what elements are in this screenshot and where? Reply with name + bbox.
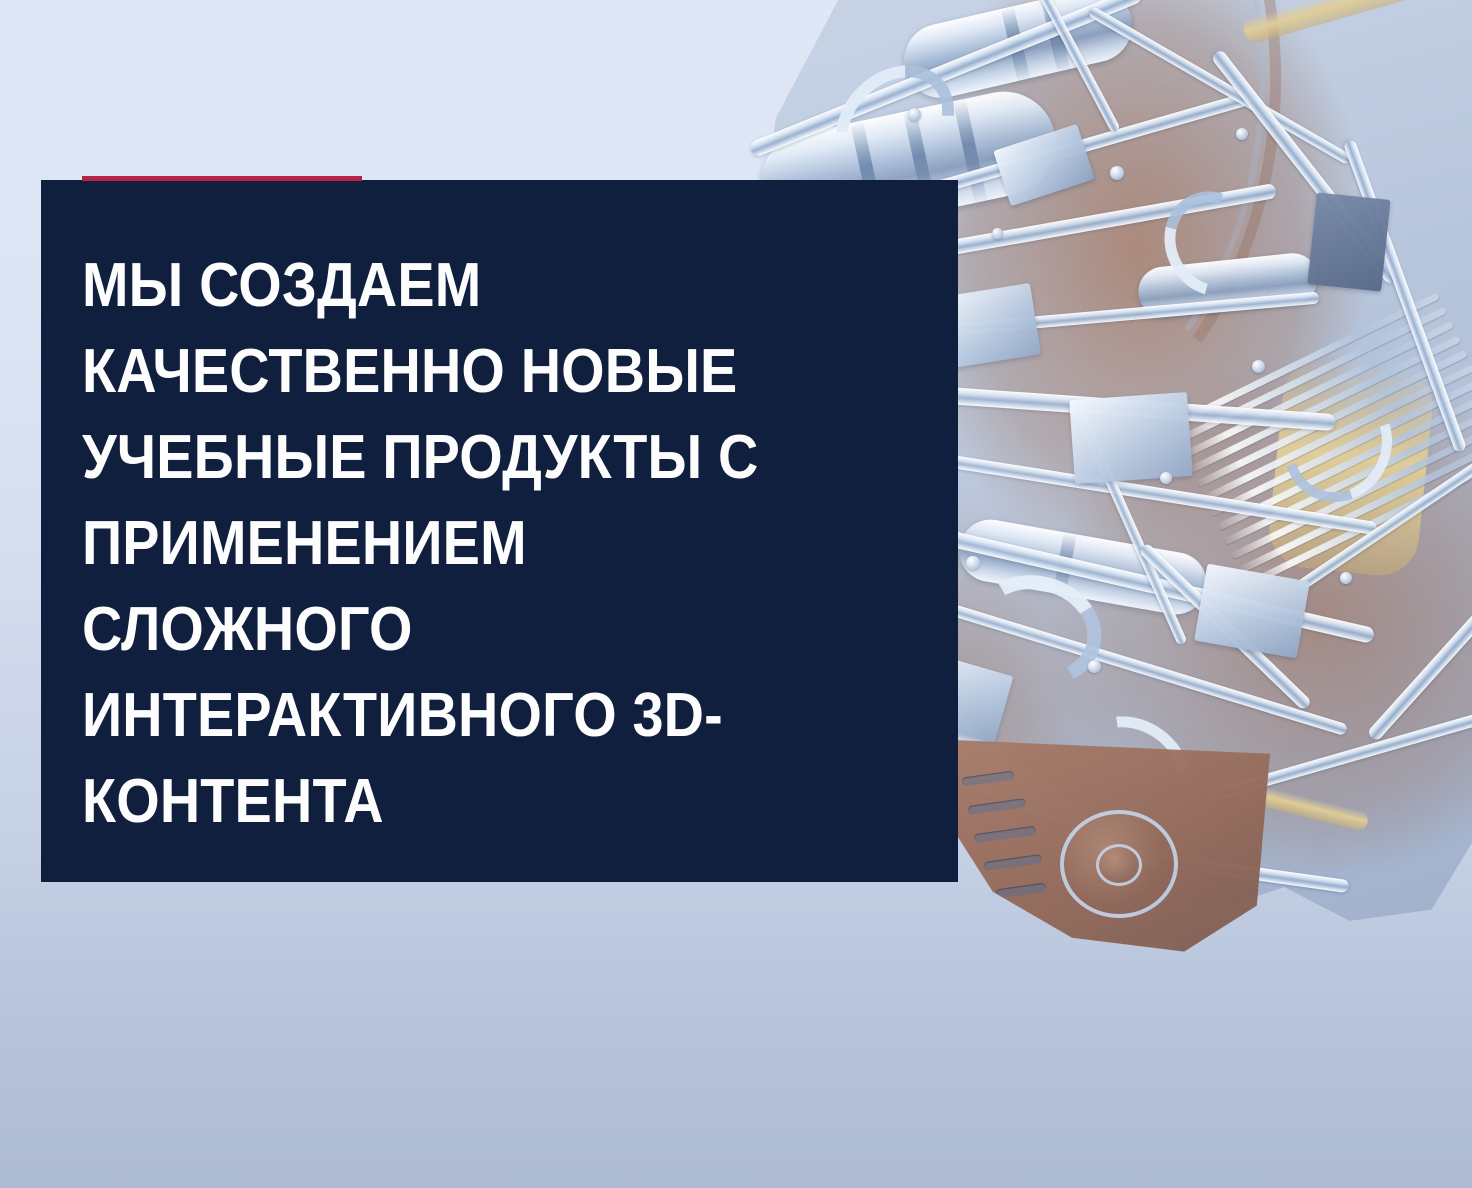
bolt <box>992 228 1003 239</box>
gearbox-drive-hub <box>1096 844 1142 886</box>
bolt <box>1252 360 1265 373</box>
bolt <box>908 108 921 121</box>
housing-block-dark <box>1307 192 1390 291</box>
accessory-gearbox <box>940 740 1270 970</box>
slide-canvas: МЫ СОЗДАЕМ КАЧЕСТВЕННО НОВЫЕ УЧЕБНЫЕ ПРО… <box>0 0 1472 1188</box>
bolt <box>966 556 980 570</box>
bolt <box>1110 166 1124 180</box>
headline-card: МЫ СОЗДАЕМ КАЧЕСТВЕННО НОВЫЕ УЧЕБНЫЕ ПРО… <box>41 180 958 882</box>
red-accent-rule <box>82 176 362 181</box>
bolt <box>1340 572 1352 584</box>
bolt <box>1236 128 1248 140</box>
bolt <box>1160 472 1172 484</box>
housing-block <box>1069 392 1193 484</box>
bolt <box>1088 660 1101 673</box>
page-title: МЫ СОЗДАЕМ КАЧЕСТВЕННО НОВЫЕ УЧЕБНЫЕ ПРО… <box>82 243 838 845</box>
